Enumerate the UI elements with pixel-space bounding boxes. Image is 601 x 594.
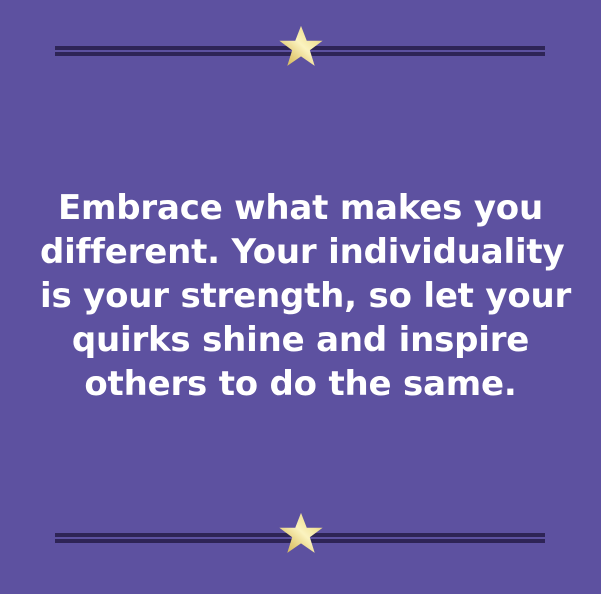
quote-line: different. Your individuality xyxy=(40,230,561,274)
quote-line: others to do the same. xyxy=(40,362,561,406)
quote-line: quirks shine and inspire xyxy=(40,318,561,362)
bottom-divider-ornament xyxy=(0,505,601,561)
top-divider-ornament xyxy=(0,18,601,74)
gold-star-icon xyxy=(278,511,324,557)
bottom-star xyxy=(278,511,324,557)
gold-star-icon xyxy=(278,24,324,70)
top-star xyxy=(278,24,324,70)
quote-card: Embrace what makes you different. Your i… xyxy=(0,0,601,594)
quote-line: is your strength, so let your xyxy=(40,274,561,318)
quote-line: Embrace what makes you xyxy=(40,186,561,230)
quote-text: Embrace what makes you different. Your i… xyxy=(0,186,601,406)
